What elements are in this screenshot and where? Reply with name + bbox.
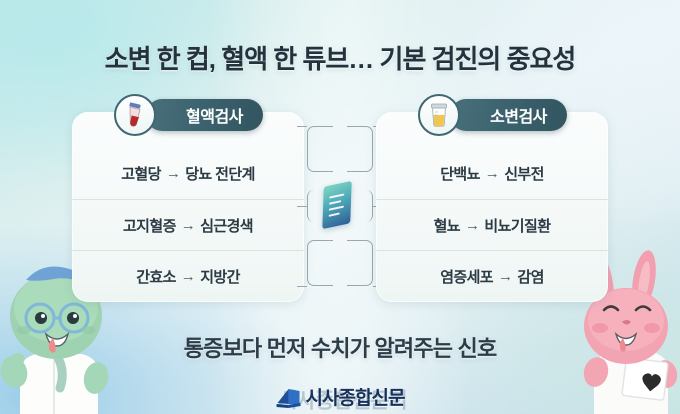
badge-label: 소변검사 bbox=[490, 103, 547, 127]
table-row: 고혈당 → 당뇨 전단계 bbox=[72, 148, 304, 199]
row-from: 간효소 bbox=[136, 266, 176, 287]
bottom-caption: 통증보다 먼저 수치가 알려주는 신호 bbox=[0, 331, 680, 363]
table-row: 혈뇨 → 비뇨기질환 bbox=[376, 199, 608, 251]
table-row: 고지혈증 → 심근경색 bbox=[72, 199, 304, 251]
table-row: 간효소 → 지방간 bbox=[72, 250, 304, 302]
row-to: 신부전 bbox=[504, 163, 544, 184]
row-from: 단백뇨 bbox=[440, 163, 480, 184]
urine-sample-cup-icon bbox=[418, 94, 460, 136]
center-connector bbox=[305, 112, 375, 302]
watermark-text: 시사종합신문 bbox=[306, 383, 405, 410]
row-to: 감염 bbox=[517, 266, 543, 287]
urine-test-panel: 단백뇨 → 신부전 혈뇨 → 비뇨기질환 염증세포 → 감염 bbox=[376, 112, 608, 302]
watermark: 시사종합신문회 시사종합신문 bbox=[276, 383, 405, 410]
arrow-icon: → bbox=[465, 217, 479, 234]
open-book-logo-icon bbox=[276, 385, 302, 409]
arrow-icon: → bbox=[166, 165, 180, 182]
badge-label: 혈액검사 bbox=[186, 103, 243, 127]
table-row: 단백뇨 → 신부전 bbox=[376, 148, 608, 199]
arrow-icon: → bbox=[498, 268, 512, 285]
infographic-canvas: 소변 한 컵, 혈액 한 튜브… 기본 검진의 중요성 고혈당 → 당뇨 전단계… bbox=[0, 0, 680, 414]
row-to: 당뇨 전단계 bbox=[185, 163, 255, 184]
row-from: 고혈당 bbox=[121, 163, 161, 184]
row-from: 혈뇨 bbox=[434, 215, 460, 236]
lab-report-document-icon bbox=[322, 181, 351, 229]
row-from: 고지혈증 bbox=[123, 215, 176, 236]
row-from: 염증세포 bbox=[440, 266, 493, 287]
arrow-icon: → bbox=[181, 268, 195, 285]
row-to: 심근경색 bbox=[200, 215, 253, 236]
urine-test-badge: 소변검사 bbox=[450, 99, 567, 131]
row-to: 비뇨기질환 bbox=[484, 215, 550, 236]
blood-test-panel: 고혈당 → 당뇨 전단계 고지혈증 → 심근경색 간효소 → 지방간 bbox=[72, 112, 304, 302]
arrow-icon: → bbox=[181, 217, 195, 234]
urine-test-row-list: 단백뇨 → 신부전 혈뇨 → 비뇨기질환 염증세포 → 감염 bbox=[376, 148, 608, 302]
table-row: 염증세포 → 감염 bbox=[376, 250, 608, 302]
blood-test-badge: 혈액검사 bbox=[146, 99, 263, 131]
row-to: 지방간 bbox=[200, 266, 240, 287]
arrow-icon: → bbox=[485, 165, 499, 182]
blood-test-tube-icon bbox=[114, 94, 156, 136]
page-title: 소변 한 컵, 혈액 한 튜브… 기본 검진의 중요성 bbox=[0, 39, 680, 76]
blood-test-row-list: 고혈당 → 당뇨 전단계 고지혈증 → 심근경색 간효소 → 지방간 bbox=[72, 148, 304, 302]
